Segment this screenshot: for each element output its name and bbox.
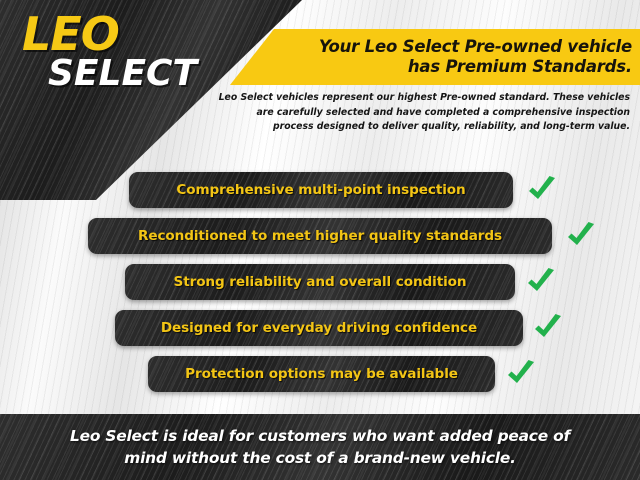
feature-row-3: Strong reliability and overall condition: [125, 264, 515, 300]
feature-pill-4: Designed for everyday driving confidence: [115, 310, 523, 346]
feature-label-1: Comprehensive multi-point inspection: [176, 182, 465, 198]
headline-line-2: has Premium Standards.: [319, 57, 632, 77]
footer-line-1: Leo Select is ideal for customers who wa…: [20, 425, 620, 447]
check-icon: [564, 220, 598, 252]
feature-list: Comprehensive multi-point inspection Rec…: [0, 168, 640, 408]
feature-pill-5: Protection options may be available: [148, 356, 495, 392]
intro-paragraph: Leo Select vehicles represent our highes…: [218, 91, 630, 135]
feature-pill-3: Strong reliability and overall condition: [125, 264, 515, 300]
feature-pill-1: Comprehensive multi-point inspection: [129, 172, 513, 208]
check-icon: [525, 174, 559, 206]
headline-banner: Your Leo Select Pre-owned vehicle has Pr…: [230, 29, 640, 85]
feature-label-4: Designed for everyday driving confidence: [161, 320, 477, 336]
headline-line-1: Your Leo Select Pre-owned vehicle: [319, 37, 632, 57]
check-icon: [531, 312, 565, 344]
feature-label-5: Protection options may be available: [185, 366, 458, 382]
check-icon: [504, 358, 538, 390]
footer-text: Leo Select is ideal for customers who wa…: [20, 425, 620, 469]
feature-row-4: Designed for everyday driving confidence: [115, 310, 523, 346]
feature-row-5: Protection options may be available: [148, 356, 495, 392]
feature-label-2: Reconditioned to meet higher quality sta…: [138, 228, 502, 244]
footer-band: Leo Select is ideal for customers who wa…: [0, 414, 640, 480]
feature-row-2: Reconditioned to meet higher quality sta…: [88, 218, 552, 254]
feature-row-1: Comprehensive multi-point inspection: [129, 172, 513, 208]
check-icon: [524, 266, 558, 298]
feature-label-3: Strong reliability and overall condition: [174, 274, 467, 290]
headline-block: Your Leo Select Pre-owned vehicle has Pr…: [319, 37, 640, 77]
leo-select-infographic: LEO SELECT Your Leo Select Pre-owned veh…: [0, 0, 640, 480]
feature-pill-2: Reconditioned to meet higher quality sta…: [88, 218, 552, 254]
footer-line-2: mind without the cost of a brand-new veh…: [20, 447, 620, 469]
